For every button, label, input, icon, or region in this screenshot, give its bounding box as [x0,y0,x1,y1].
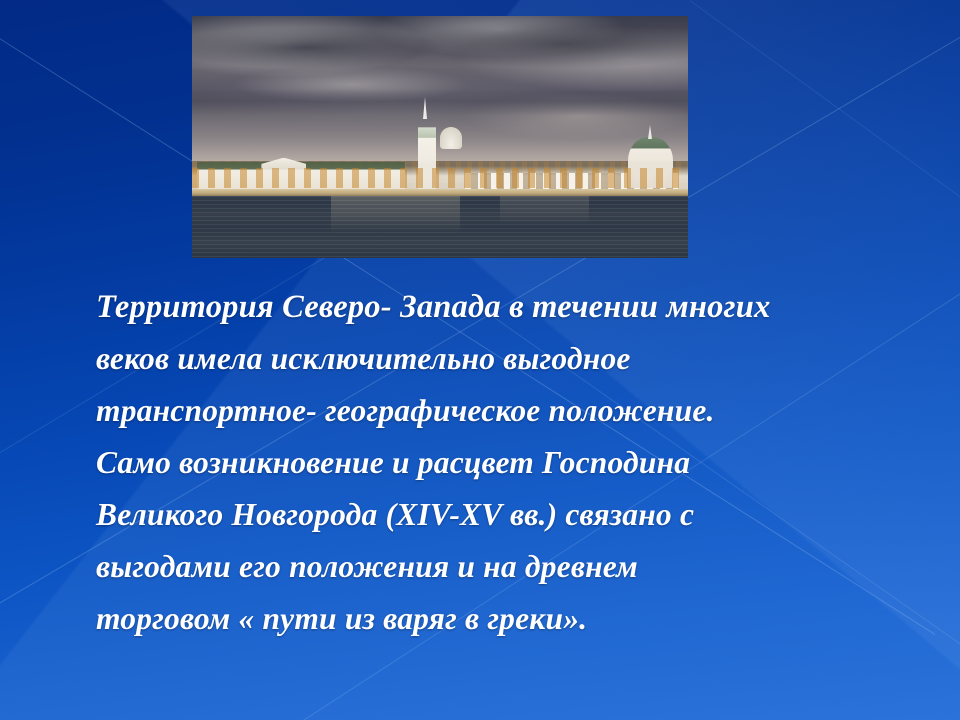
body-line: Великого Новгорода (XIV-XV вв.) связано … [96,489,886,541]
slide-body-text: Территория Северо- Запада в течении мног… [96,281,886,645]
grotto-spire [648,125,652,139]
cloud-dark [410,19,688,69]
presentation-slide: Территория Северо- Запада в течении мног… [0,0,960,720]
cloud-streak [192,89,688,116]
foreground-trees [192,168,688,187]
bell-tower-spire [423,97,427,119]
pond-water [192,196,688,258]
body-line: выгодами его положения и на древнем [96,541,886,593]
body-line: транспортное- географическое положение. [96,385,886,437]
body-line: веков имела исключительно выгодное [96,333,886,385]
body-line: Территория Северо- Запада в течении мног… [96,281,886,333]
church-dome [440,127,462,149]
body-line: торговом « пути из варяг в греки». [96,593,886,645]
storm-sky [192,16,688,183]
photo-content [192,16,688,258]
water-ripples [192,196,688,258]
body-line: Само возникновение и расцвет Господина [96,437,886,489]
slide-photo [192,16,688,258]
